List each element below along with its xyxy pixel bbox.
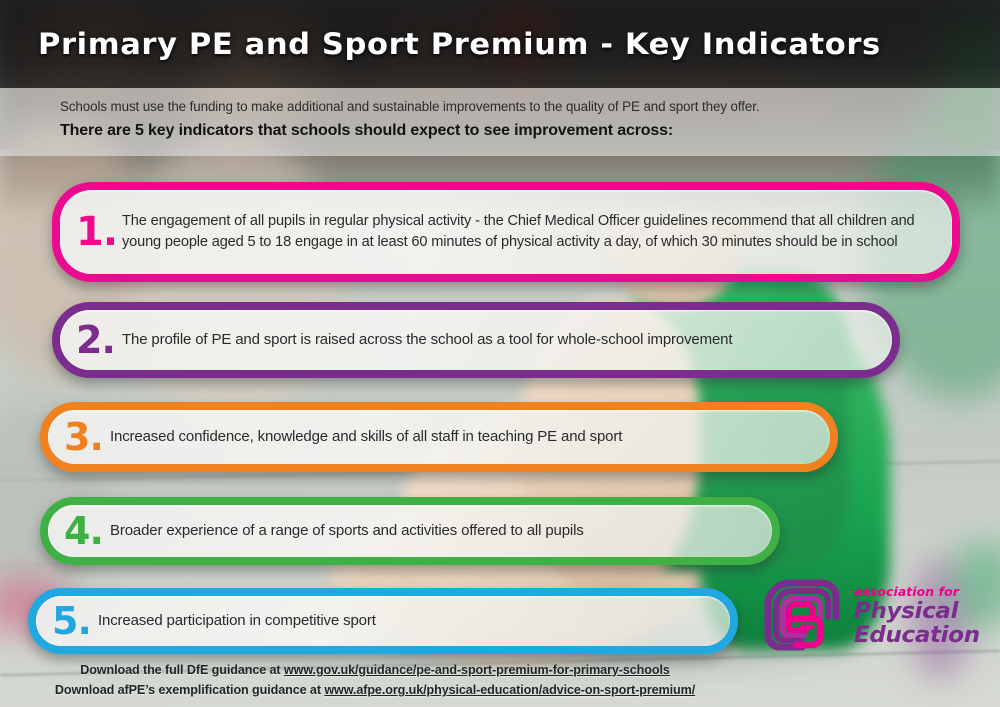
footer-afpe-label: Download afPE’s exemplification guidance… [55, 683, 324, 697]
indicator-item-4: 4. Broader experience of a range of spor… [40, 497, 780, 565]
footer-dfe-label: Download the full DfE guidance at [80, 663, 284, 677]
indicator-body: 1. The engagement of all pupils in regul… [60, 190, 952, 274]
indicator-body: 5. Increased participation in competitiv… [36, 596, 730, 646]
indicator-number: 2. [70, 321, 122, 359]
footer-afpe-url[interactable]: www.afpe.org.uk/physical-education/advic… [324, 683, 695, 697]
footer-line-dfe: Download the full DfE guidance at www.go… [0, 660, 750, 680]
indicator-number: 5. [46, 602, 98, 640]
indicator-text: The engagement of all pupils in regular … [122, 211, 938, 252]
afpe-logo: association for Physical Education [762, 576, 980, 654]
indicator-item-2: 2. The profile of PE and sport is raised… [52, 302, 900, 378]
indicator-text: Increased confidence, knowledge and skil… [110, 426, 628, 447]
footer-links: Download the full DfE guidance at www.go… [0, 660, 1000, 707]
logo-physical-text: Physical [854, 600, 980, 623]
footer-dfe-url[interactable]: www.gov.uk/guidance/pe-and-sport-premium… [284, 663, 670, 677]
indicator-number: 4. [58, 512, 110, 550]
indicator-body: 4. Broader experience of a range of spor… [48, 505, 772, 557]
footer-line-afpe: Download afPE’s exemplification guidance… [0, 680, 750, 700]
indicator-text: Increased participation in competitive s… [98, 610, 382, 631]
indicator-body: 3. Increased confidence, knowledge and s… [48, 410, 830, 464]
indicator-item-5: 5. Increased participation in competitiv… [28, 588, 738, 654]
poster-root: Primary PE and Sport Premium - Key Indic… [0, 0, 1000, 707]
indicator-body: 2. The profile of PE and sport is raised… [60, 310, 892, 370]
indicator-number: 1. [70, 212, 122, 252]
indicator-text: The profile of PE and sport is raised ac… [122, 329, 738, 350]
logo-education-text: Education [854, 624, 980, 647]
afpe-spiral-icon [762, 577, 846, 653]
afpe-wordmark: association for Physical Education [854, 584, 977, 646]
indicator-number: 3. [58, 418, 110, 456]
indicator-item-1: 1. The engagement of all pupils in regul… [52, 182, 960, 282]
indicator-text: Broader experience of a range of sports … [110, 520, 590, 541]
indicator-item-3: 3. Increased confidence, knowledge and s… [40, 402, 838, 472]
logo-association-text: association for [854, 586, 977, 598]
